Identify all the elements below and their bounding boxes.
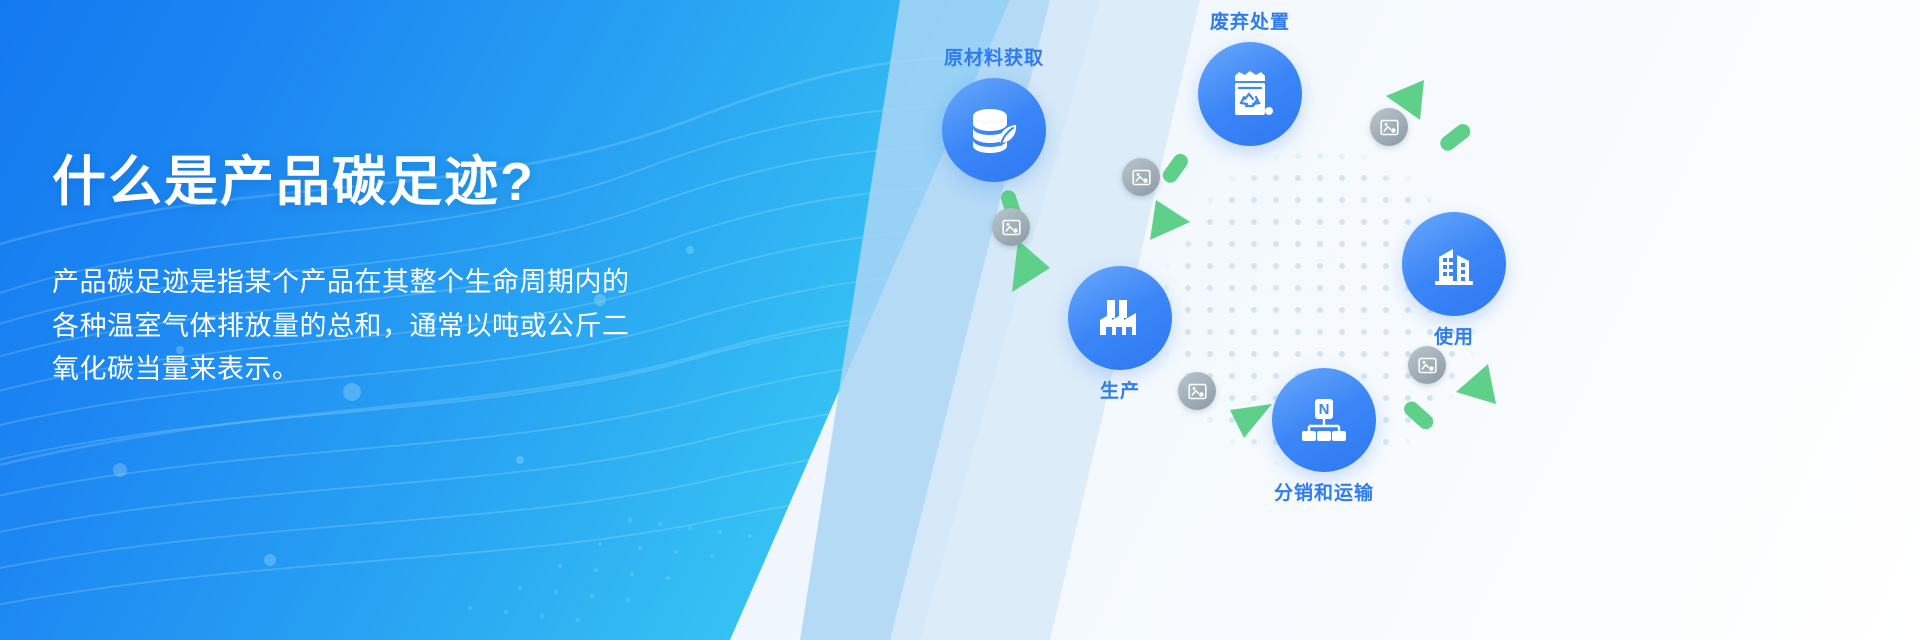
description-line-2: 各种温室气体排放量的总和，通常以吨或公斤二 (52, 305, 792, 349)
node-label-waste: 废弃处置 (1210, 7, 1290, 34)
waste-bubble[interactable] (1198, 42, 1302, 146)
network-node-icon: N (1297, 393, 1351, 447)
lifecycle-node-distribution[interactable]: 分销和运输 N (1272, 368, 1376, 472)
production-bubble[interactable] (1068, 266, 1172, 370)
lifecycle-node-use[interactable]: 使用 (1402, 212, 1506, 316)
banner-copy: 什么是产品碳足迹? 产品碳足迹是指某个产品在其整个生命周期内的 各种温室气体排放… (52, 150, 792, 392)
lifecycle-node-production[interactable]: 生产 (1068, 266, 1172, 370)
raw-material-bubble[interactable] (942, 78, 1046, 182)
connector-chip-use-to-waste (1370, 108, 1408, 146)
database-leaf-icon (965, 101, 1023, 159)
image-placeholder-icon (1001, 217, 1022, 238)
distribution-bubble[interactable]: N (1272, 368, 1376, 472)
node-label-distribution: 分销和运输 (1274, 478, 1374, 505)
page-title: 什么是产品碳足迹? (52, 150, 792, 215)
connector-chip-waste-to-raw (1122, 158, 1160, 196)
description-line-3: 氧化碳当量来表示。 (52, 348, 792, 392)
node-label-raw-material: 原材料获取 (944, 43, 1044, 70)
distribution-glyph: N (1319, 401, 1330, 418)
use-bubble[interactable] (1402, 212, 1506, 316)
image-placeholder-icon (1379, 117, 1400, 138)
connector-chip-distribution-to-use (1408, 346, 1446, 384)
factory-icon (1092, 290, 1148, 346)
connector-chip-production-to-distribution (1178, 372, 1216, 410)
lifecycle-diagram: 原材料获取 废弃处置 (900, 0, 1920, 640)
buildings-icon (1427, 237, 1481, 291)
node-label-production: 生产 (1100, 376, 1140, 403)
image-placeholder-icon (1187, 381, 1208, 402)
banner-description: 产品碳足迹是指某个产品在其整个生命周期内的 各种温室气体排放量的总和，通常以吨或… (52, 261, 792, 392)
connector-chip-raw-to-production (992, 208, 1030, 246)
lifecycle-arrows (900, 0, 1920, 640)
description-line-1: 产品碳足迹是指某个产品在其整个生命周期内的 (52, 261, 792, 305)
image-placeholder-icon (1131, 167, 1152, 188)
node-label-use: 使用 (1434, 322, 1474, 349)
lifecycle-node-waste[interactable]: 废弃处置 (1198, 42, 1302, 146)
image-placeholder-icon (1417, 355, 1438, 376)
lifecycle-node-raw-material[interactable]: 原材料获取 (942, 78, 1046, 182)
recycle-bin-icon (1222, 66, 1278, 122)
arrow-waste-to-raw (1150, 151, 1191, 240)
carbon-footprint-banner: 什么是产品碳足迹? 产品碳足迹是指某个产品在其整个生命周期内的 各种温室气体排放… (0, 0, 1920, 640)
